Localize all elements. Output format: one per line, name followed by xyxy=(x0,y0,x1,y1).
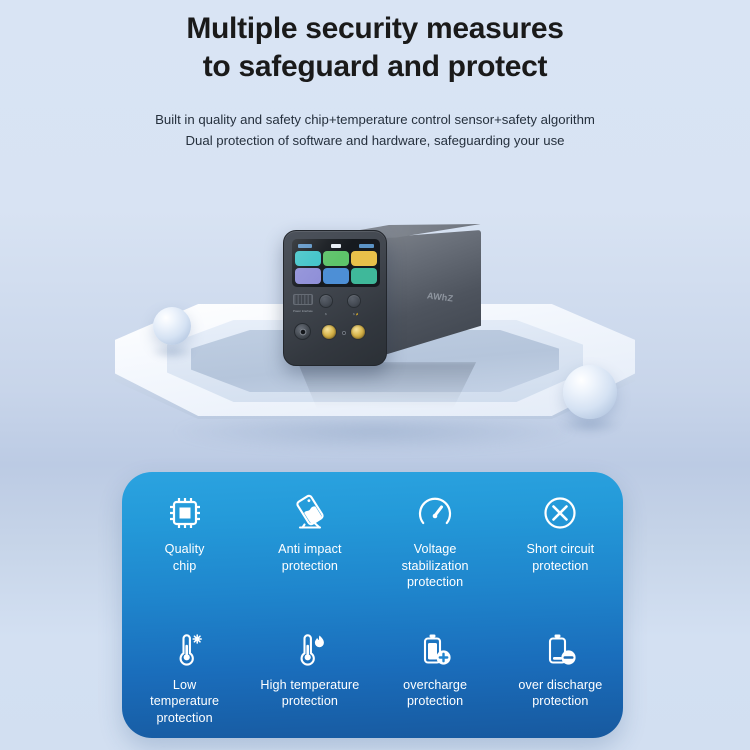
feature-anti-impact[interactable]: Anti impact protection xyxy=(247,492,372,628)
podium-shadow xyxy=(175,418,575,452)
decorative-sphere-right xyxy=(563,365,617,419)
screen-tile xyxy=(351,268,377,283)
header: Multiple security measures to safeguard … xyxy=(0,10,750,151)
device-screen xyxy=(292,239,380,287)
feature-low-temperature[interactable]: Low temperature protection xyxy=(122,628,247,738)
device-vent-grille xyxy=(293,294,313,305)
feature-row-1: Quality chip xyxy=(122,492,623,628)
device-button-output[interactable] xyxy=(347,294,361,308)
page-root: Multiple security measures to safeguard … xyxy=(0,0,750,750)
feature-label: Quality chip xyxy=(165,541,205,574)
feature-label: Low temperature protection xyxy=(150,677,219,727)
feature-voltage-stabilization[interactable]: Voltage stabilization protection xyxy=(373,492,498,628)
device-power-label: ⏻ xyxy=(318,313,334,316)
device-dc-input-port[interactable] xyxy=(294,323,311,340)
feature-quality-chip[interactable]: Quality chip xyxy=(122,492,247,628)
feature-label: Voltage stabilization protection xyxy=(402,541,469,591)
device-output-jack-1[interactable] xyxy=(321,324,337,340)
page-title: Multiple security measures to safeguard … xyxy=(0,10,750,86)
screen-tile xyxy=(351,251,377,266)
product-device: Power Interface ⏻ ⏻ ⚡ AWhZ xyxy=(281,222,481,370)
thermometer-flame-icon xyxy=(289,628,331,670)
screen-tile xyxy=(295,268,321,283)
device-port-label: Power Interface xyxy=(291,310,315,313)
screen-tile xyxy=(323,251,349,266)
device-button-power[interactable] xyxy=(319,294,333,308)
feature-high-temperature[interactable]: High temperature protection xyxy=(247,628,372,738)
screen-tile xyxy=(295,251,321,266)
feature-over-discharge[interactable]: over discharge protection xyxy=(498,628,623,738)
circle-x-icon xyxy=(539,492,581,534)
feature-label: Short circuit protection xyxy=(526,541,594,574)
device-output-label: ⏻ ⚡ xyxy=(344,313,368,316)
page-subtitle: Built in quality and safety chip+tempera… xyxy=(0,110,750,151)
feature-short-circuit[interactable]: Short circuit protection xyxy=(498,492,623,628)
screen-status-pill-left xyxy=(298,244,312,248)
battery-minus-icon xyxy=(539,628,581,670)
feature-label: Anti impact protection xyxy=(278,541,341,574)
headline-line-1: Multiple security measures xyxy=(0,10,750,48)
device-front-panel: Power Interface ⏻ ⏻ ⚡ xyxy=(283,230,387,366)
headline-line-2: to safeguard and protect xyxy=(0,48,750,86)
screen-tile-grid xyxy=(295,251,377,284)
device-led-indicator xyxy=(342,331,346,335)
screen-tile xyxy=(323,268,349,283)
feature-label: High temperature protection xyxy=(260,677,359,710)
battery-plus-icon xyxy=(414,628,456,670)
sphere-shadow-left xyxy=(150,345,194,359)
thermometer-snow-icon xyxy=(164,628,206,670)
screen-status-pill-right xyxy=(359,244,374,248)
subtitle-line-1: Built in quality and safety chip+tempera… xyxy=(0,110,750,130)
phone-drop-icon xyxy=(289,492,331,534)
gauge-icon xyxy=(414,492,456,534)
chip-icon xyxy=(164,492,206,534)
decorative-sphere-left xyxy=(153,307,191,345)
screen-status-pill-center xyxy=(331,244,341,248)
screen-status-bar xyxy=(295,242,377,249)
feature-label: over discharge protection xyxy=(518,677,602,710)
subtitle-line-2: Dual protection of software and hardware… xyxy=(0,131,750,151)
features-panel: Quality chip xyxy=(122,472,623,738)
device-output-jack-2[interactable] xyxy=(350,324,366,340)
feature-overcharge[interactable]: overcharge protection xyxy=(373,628,498,738)
feature-label: overcharge protection xyxy=(403,677,467,710)
feature-row-2: Low temperature protection High temperat… xyxy=(122,628,623,738)
